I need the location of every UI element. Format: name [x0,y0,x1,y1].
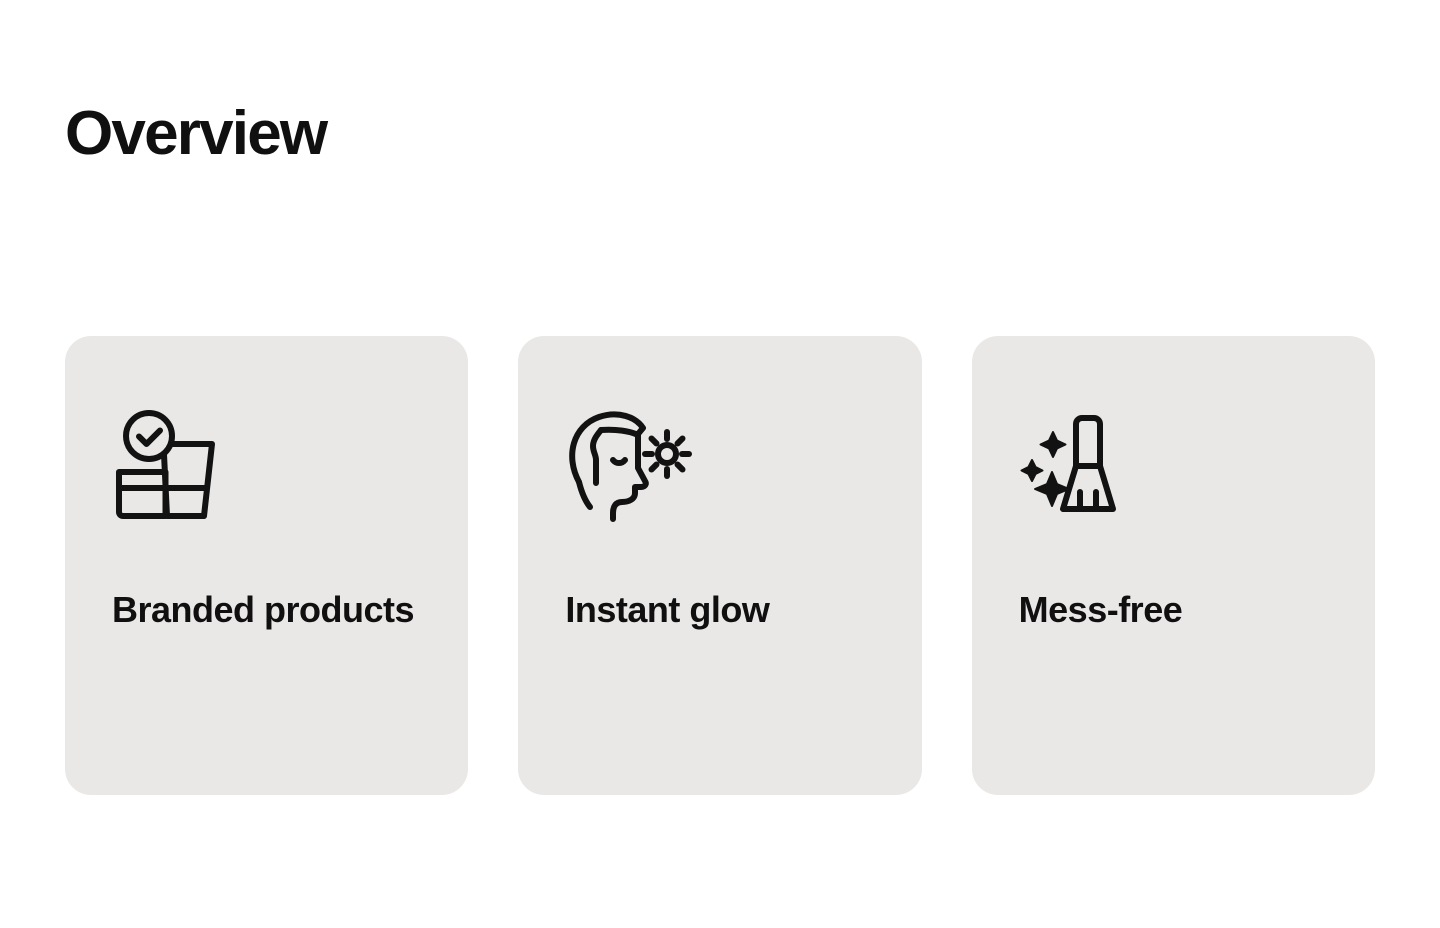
face-profile-sun-icon [566,410,696,530]
feature-card-mess-free[interactable]: Mess-free [972,336,1375,795]
cosmetic-jar-tube-check-icon [113,410,243,530]
feature-card-label: Branded products [112,586,442,634]
overview-page: Overview Brande [0,0,1440,928]
feature-card-branded-products[interactable]: Branded products [65,336,468,795]
page-title: Overview [65,103,326,165]
broom-sparkles-icon [1020,410,1150,530]
feature-card-label: Mess-free [1019,586,1349,634]
feature-card-instant-glow[interactable]: Instant glow [518,336,921,795]
feature-card-label: Instant glow [565,586,895,634]
feature-cards-row: Branded products [65,336,1375,795]
